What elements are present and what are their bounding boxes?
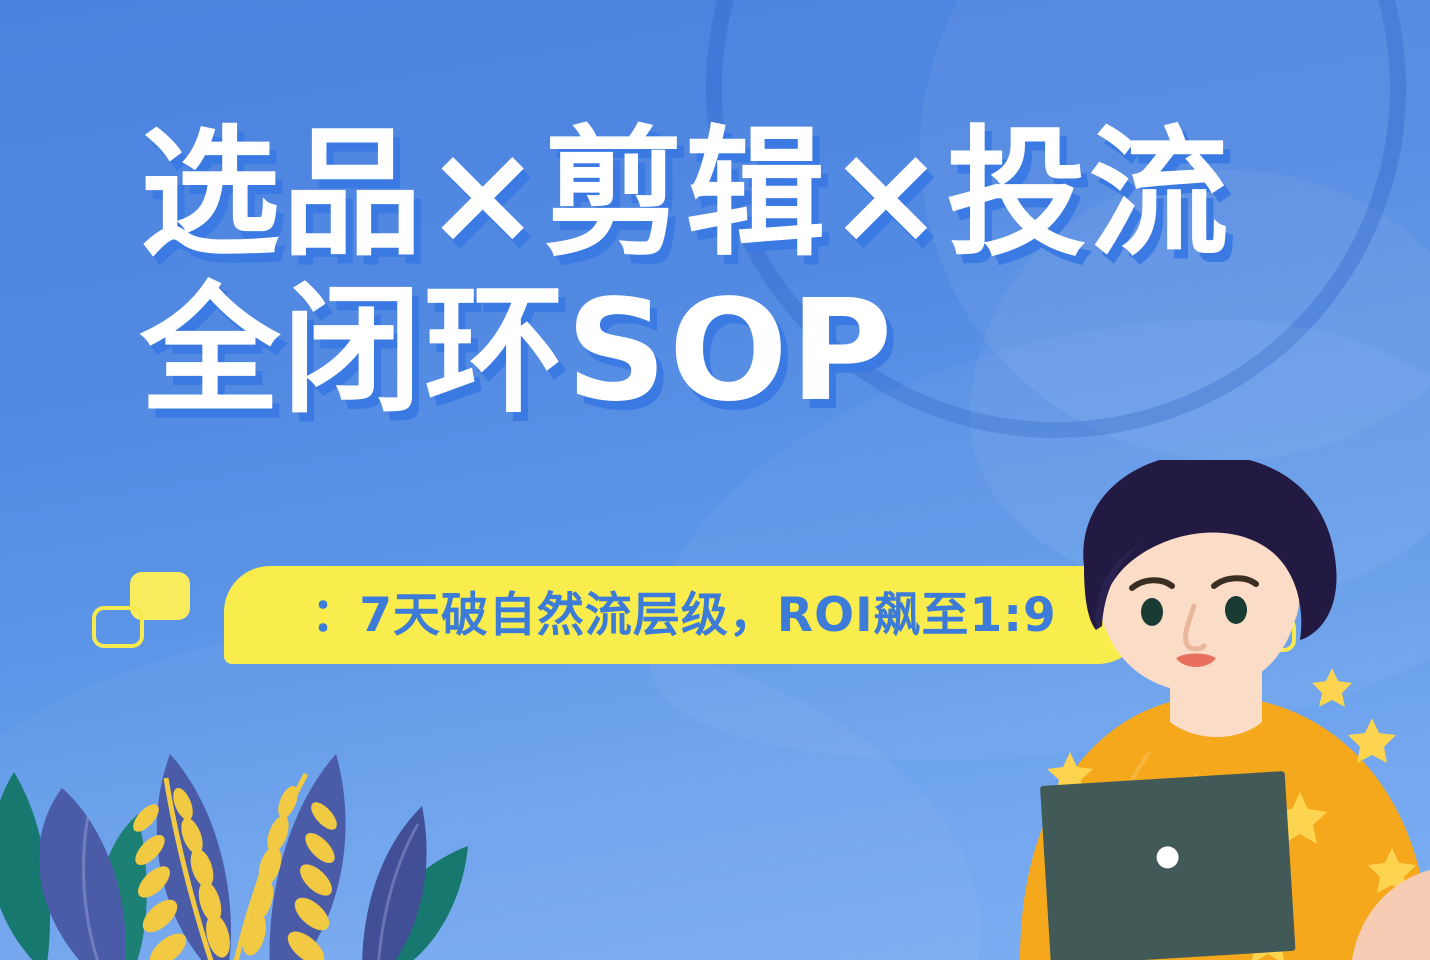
promo-poster: 选品×剪辑×投流 全闭环SOP ：7天破自然流层级，ROI飙至1:9 <box>0 0 1430 960</box>
laptop-lid <box>1040 771 1296 960</box>
accent-square-left-outline <box>92 606 144 648</box>
headline-line-1: 选品×剪辑×投流 <box>140 124 1360 267</box>
headline-block: 选品×剪辑×投流 全闭环SOP <box>140 124 1360 424</box>
plant-purple-leaves <box>39 754 427 960</box>
subtitle-text: ：7天破自然流层级，ROI飙至1:9 <box>311 592 1057 639</box>
plant-illustration <box>0 710 510 960</box>
headline-line-2: 全闭环SOP <box>140 281 1360 424</box>
laptop-logo-dot <box>1156 846 1179 869</box>
